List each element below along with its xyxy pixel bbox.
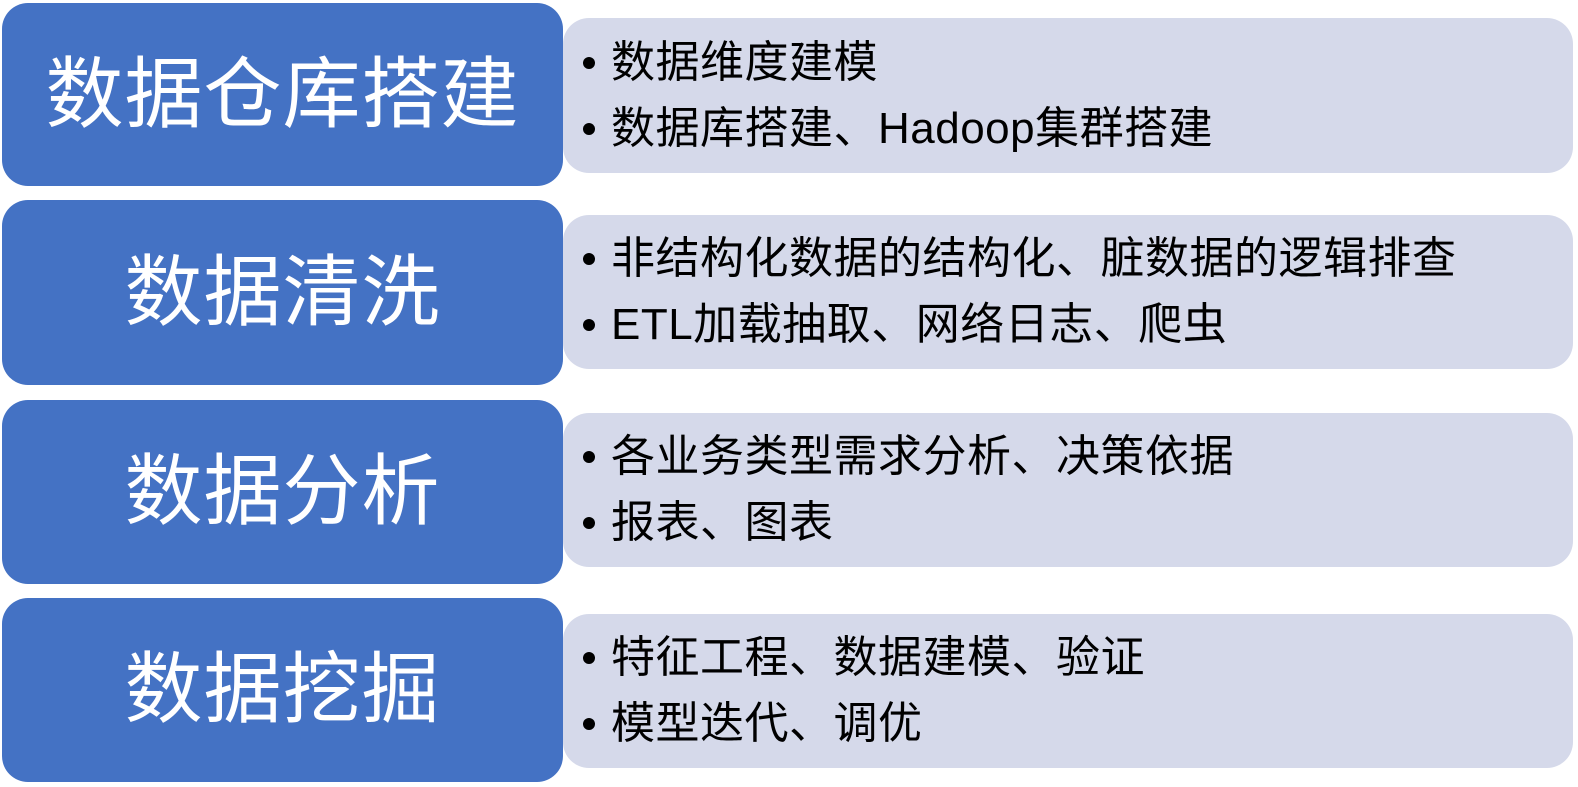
bullet-item: 数据维度建模 [563,30,1573,96]
bullet-dot-icon [583,517,595,529]
bullet-item: 各业务类型需求分析、决策依据 [563,424,1573,490]
stage-block-2[interactable]: 数据清洗 [2,200,563,385]
stage-label: 数据清洗 [124,252,440,334]
bullet-item: 模型迭代、调优 [563,691,1573,757]
bullet-text: 模型迭代、调优 [611,699,923,748]
bullet-list: 特征工程、数据建模、验证 模型迭代、调优 [563,625,1573,757]
bullet-item: 报表、图表 [563,490,1573,556]
bullet-dot-icon [583,253,595,265]
stage-block-4[interactable]: 数据挖掘 [2,598,563,782]
bullet-list: 数据维度建模 数据库搭建、Hadoop集群搭建 [563,30,1573,162]
bullet-text: 数据维度建模 [611,38,878,87]
bullet-item: ETL加载抽取、网络日志、爬虫 [563,292,1573,358]
bullet-text: 报表、图表 [611,498,834,547]
process-row: 数据仓库搭建 数据维度建模 数据库搭建、Hadoop集群搭建 [0,0,1578,196]
detail-panel-2: 非结构化数据的结构化、脏数据的逻辑排查 ETL加载抽取、网络日志、爬虫 [563,215,1573,369]
bullet-text: 数据库搭建、Hadoop集群搭建 [611,104,1213,153]
bullet-dot-icon [583,123,595,135]
stage-label: 数据仓库搭建 [45,54,519,136]
bullet-dot-icon [583,57,595,69]
stage-label: 数据分析 [124,451,440,533]
bullet-text: ETL加载抽取、网络日志、爬虫 [611,300,1227,349]
bullet-dot-icon [583,451,595,463]
bullet-text: 各业务类型需求分析、决策依据 [611,432,1234,481]
bullet-dot-icon [583,319,595,331]
bullet-item: 特征工程、数据建模、验证 [563,625,1573,691]
process-row: 数据分析 各业务类型需求分析、决策依据 报表、图表 [0,397,1578,593]
process-row: 数据挖掘 特征工程、数据建模、验证 模型迭代、调优 [0,595,1578,787]
bullet-dot-icon [583,718,595,730]
detail-panel-1: 数据维度建模 数据库搭建、Hadoop集群搭建 [563,18,1573,173]
detail-panel-3: 各业务类型需求分析、决策依据 报表、图表 [563,413,1573,567]
stage-block-1[interactable]: 数据仓库搭建 [2,3,563,186]
bullet-list: 非结构化数据的结构化、脏数据的逻辑排查 ETL加载抽取、网络日志、爬虫 [563,226,1573,358]
bullet-item: 数据库搭建、Hadoop集群搭建 [563,96,1573,162]
bullet-text: 非结构化数据的结构化、脏数据的逻辑排查 [611,234,1457,283]
stage-block-3[interactable]: 数据分析 [2,400,563,584]
bullet-list: 各业务类型需求分析、决策依据 报表、图表 [563,424,1573,556]
bullet-item: 非结构化数据的结构化、脏数据的逻辑排查 [563,226,1573,292]
process-row: 数据清洗 非结构化数据的结构化、脏数据的逻辑排查 ETL加载抽取、网络日志、爬虫 [0,197,1578,393]
process-diagram: 数据仓库搭建 数据维度建模 数据库搭建、Hadoop集群搭建 数据清洗 [0,0,1578,787]
stage-label: 数据挖掘 [124,649,440,731]
bullet-text: 特征工程、数据建模、验证 [611,633,1145,682]
detail-panel-4: 特征工程、数据建模、验证 模型迭代、调优 [563,614,1573,768]
bullet-dot-icon [583,652,595,664]
